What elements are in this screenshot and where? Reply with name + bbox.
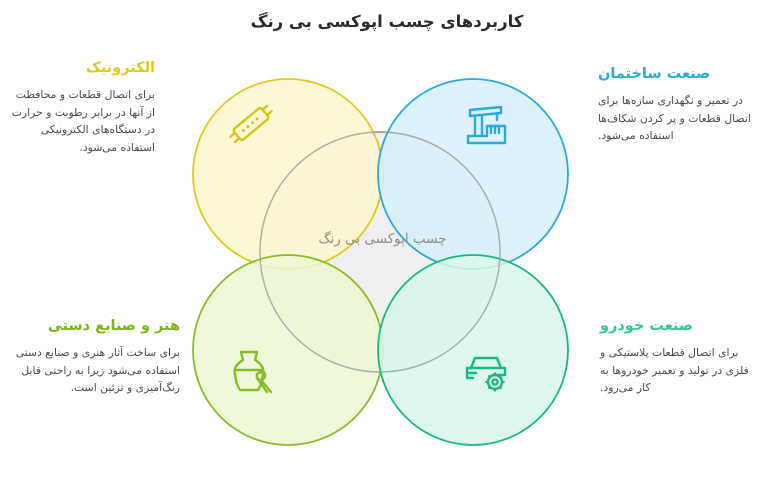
- section-auto: صنعت خودرو برای اتصال قطعات پلاستیکی و ف…: [600, 318, 764, 397]
- vase-paintbrush-icon: [223, 342, 279, 398]
- section-electronics-body: برای اتصال قطعات و محافظت از آنها در برا…: [10, 86, 155, 156]
- section-building-title: صنعت ساختمان: [598, 66, 764, 83]
- section-crafts-title: هنر و صنایع دستی: [8, 318, 180, 335]
- section-electronics: الکترونیک برای اتصال قطعات و محافظت از آ…: [10, 60, 155, 156]
- section-building: صنعت ساختمان در تعمیر و نگهداری سازه‌ها …: [598, 66, 764, 145]
- section-auto-title: صنعت خودرو: [600, 318, 764, 335]
- section-auto-body: برای اتصال قطعات پلاستیکی و فلزی در تولی…: [600, 344, 764, 396]
- section-crafts-body: برای ساخت آثار هنری و صنایع دستی استفاده…: [8, 344, 180, 396]
- page-title: کاربردهای چسب اپوکسی بی رنگ: [0, 12, 774, 31]
- car-gear-icon: [457, 342, 513, 398]
- venn-circle-crafts[interactable]: [193, 255, 383, 445]
- venn-diagram: چسب اپوکسی بی رنگ: [185, 50, 575, 455]
- section-crafts: هنر و صنایع دستی برای ساخت آثار هنری و ص…: [8, 318, 180, 397]
- section-building-body: در تعمیر و نگهداری سازه‌ها برای اتصال قط…: [598, 92, 764, 144]
- circuit-resistor-icon: [223, 96, 279, 152]
- section-electronics-title: الکترونیک: [10, 60, 155, 77]
- construction-crane-icon: [457, 96, 513, 152]
